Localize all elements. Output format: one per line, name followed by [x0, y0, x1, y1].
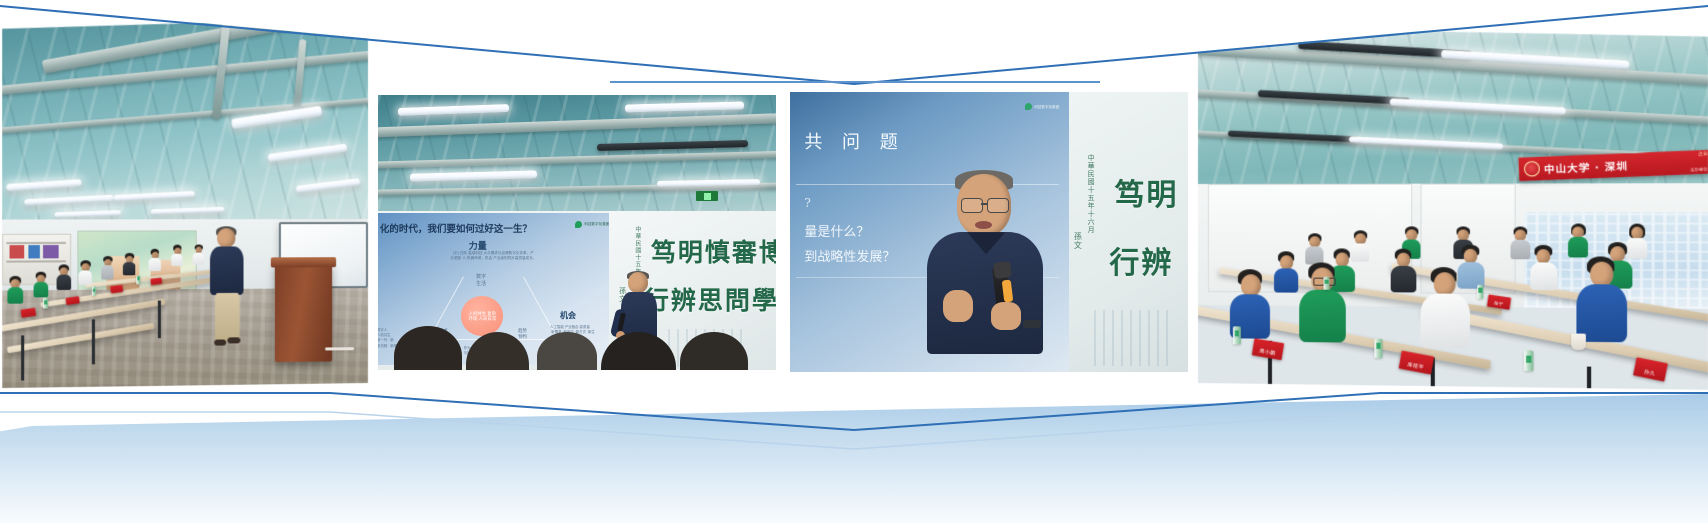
slide-canvas: 化的时代，我们要如何过好这一生？ 科技数字化集团 力量 (中) 四年 高端科技 … [0, 0, 1708, 523]
name-card-text: 周小鹏 [1259, 350, 1276, 360]
slide-bullet-2: 到战略性发展？ [804, 246, 895, 265]
photo-1-image [2, 13, 368, 388]
slide-node-center-top: 数字 生活 [476, 274, 486, 288]
slide-center-circle: 人机共生 复杂 环境·人间日常 [461, 296, 503, 335]
banner-top-line: 企业家培 [1698, 151, 1708, 158]
banner-title: 中山大学 · 深圳 [1544, 157, 1629, 176]
slide-headline: 共 问 题 [804, 128, 904, 154]
banner-sub-line: 主办单位：深圳 [1690, 166, 1708, 173]
exit-sign [696, 191, 718, 201]
slide-bullet-0: ? [804, 196, 810, 210]
slide-headline: 化的时代，我们要如何过好这一生？ [380, 221, 532, 235]
calligraphy-line-2: 行辨思問學 [644, 281, 776, 317]
slide-node-top: 力量 [469, 239, 487, 252]
photo-2-image: 化的时代，我们要如何过好这一生？ 科技数字化集团 力量 (中) 四年 高端科技 … [378, 95, 776, 370]
calligraphy-arch-watermark [1094, 310, 1173, 366]
university-seal-icon [1524, 161, 1540, 177]
calligraphy-line-2: 行辨 [1109, 238, 1173, 282]
slide-logo: 科技数字化集团 [1025, 103, 1059, 110]
slide-circle-text: 人机共生 复杂 环境·人间日常 [468, 311, 496, 322]
calligraphy-line-1: 笃明 [1114, 170, 1178, 214]
slide-bullet-1: 量是什么？ [804, 221, 869, 240]
photo-4-image: 中山大学 · 深圳 企业家培 主办单位：深圳 [1198, 20, 1708, 390]
name-card: 周小鹏 [1252, 339, 1284, 361]
bottom-decorative-band [0, 393, 1708, 523]
name-card-text: 孙久 [1643, 370, 1656, 379]
logo-mark [1025, 103, 1032, 110]
slide-node-top-sub: (中) 四年 高端科技 大众需求与品牌数字化变革，产 业更新 人·机器审美，机会… [424, 251, 562, 262]
photo-3-image: 科技数字化集团 共 问 题 ? 量是什么？ 到战略性发展？ 中華民國十五年十六月… [790, 92, 1188, 372]
calligraphy-wall: 中華民國十五年十六月 孫文 笃明 行辨 [1069, 92, 1188, 372]
band-gradient [0, 393, 1708, 523]
logo-text: 科技数字化集团 [1034, 105, 1059, 109]
photo-panel-3: 科技数字化集团 共 问 题 ? 量是什么？ 到战略性发展？ 中華民國十五年十六月… [790, 92, 1188, 372]
calligraphy-side-column: 中華民國十五年十六月 [1086, 154, 1094, 234]
calligraphy-line-1: 笃明慎審博 [651, 233, 776, 269]
slide-logo: 科技数字化集团 [575, 221, 609, 228]
photo-panel-2: 化的时代，我们要如何过好这一生？ 科技数字化集团 力量 (中) 四年 高端科技 … [378, 95, 776, 370]
logo-mark [575, 221, 582, 228]
calligraphy-signature: 孫文 [1072, 232, 1083, 250]
name-card-text: 陈宁 [1494, 301, 1504, 308]
photo-panel-4: 中山大学 · 深圳 企业家培 主办单位：深圳 [1198, 20, 1708, 390]
logo-text: 科技数字化集团 [584, 222, 609, 226]
photo-panel-1 [2, 13, 368, 388]
slide-node-right: 机会 [560, 310, 576, 321]
podium [275, 263, 333, 363]
slide-node-right-bot: 趋势 预判 [518, 328, 527, 340]
name-card-text: 库桂平 [1407, 363, 1425, 373]
